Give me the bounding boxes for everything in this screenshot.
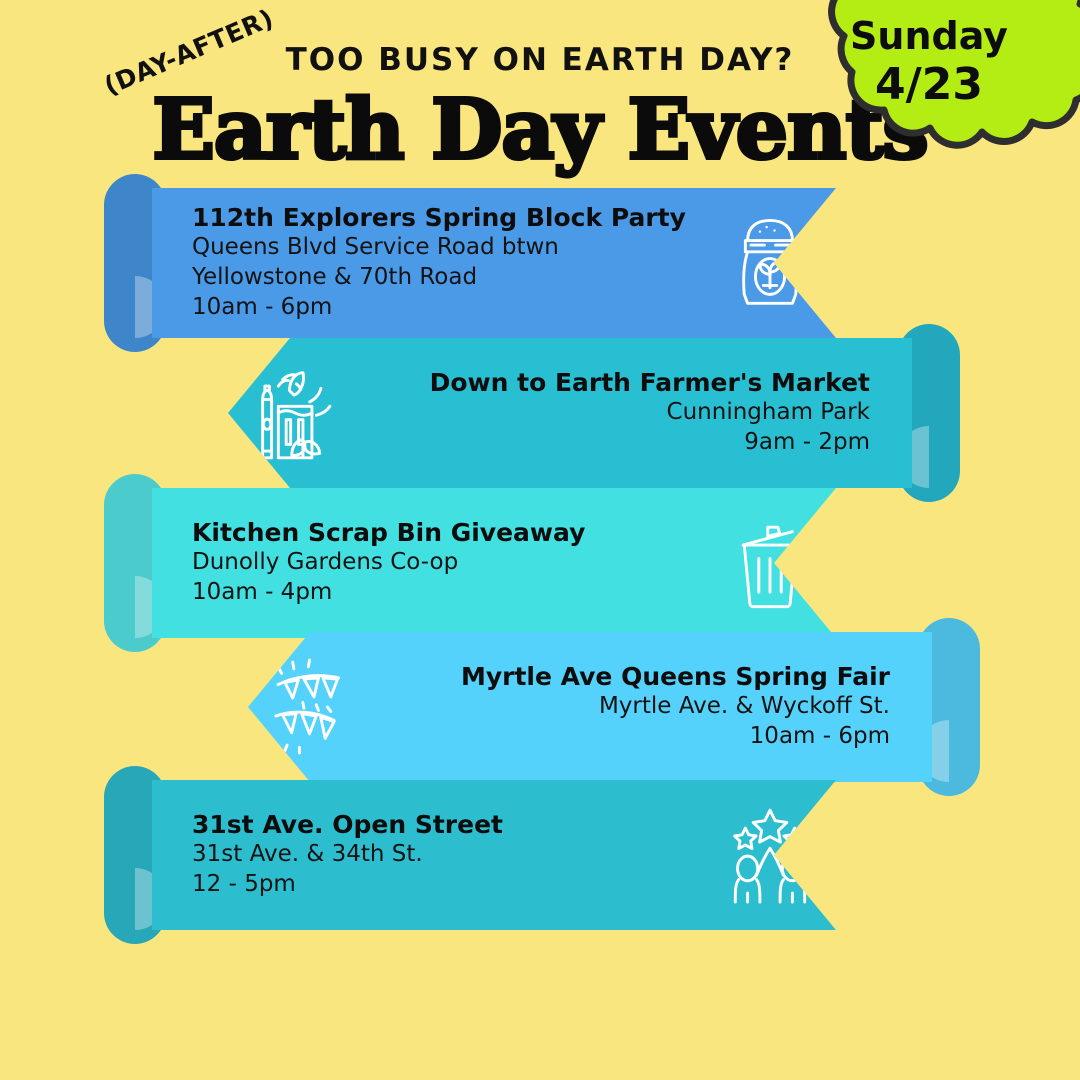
- ribbon-body: Kitchen Scrap Bin Giveaway Dunolly Garde…: [152, 488, 836, 638]
- event-banner[interactable]: Down to Earth Farmer's Market Cunningham…: [228, 338, 960, 488]
- event-time: 9am - 2pm: [430, 428, 870, 458]
- event-text-block: Down to Earth Farmer's Market Cunningham…: [430, 368, 912, 458]
- ribbon-body: Down to Earth Farmer's Market Cunningham…: [228, 338, 912, 488]
- ribbon-body: 31st Ave. Open Street 31st Ave. & 34th S…: [152, 780, 836, 930]
- event-time: 12 - 5pm: [192, 870, 503, 900]
- date-badge: Sunday 4/23: [804, 0, 1080, 190]
- event-title: 112th Explorers Spring Block Party: [192, 203, 686, 234]
- event-banner[interactable]: Myrtle Ave Queens Spring Fair Myrtle Ave…: [248, 632, 980, 782]
- event-banner[interactable]: Kitchen Scrap Bin Giveaway Dunolly Garde…: [104, 488, 836, 638]
- event-time: 10am - 6pm: [192, 293, 686, 323]
- event-text-block: 112th Explorers Spring Block Party Queen…: [152, 203, 686, 323]
- trash-bin-icon: [704, 497, 836, 629]
- event-location-line-1: Queens Blvd Service Road btwn: [192, 233, 686, 263]
- event-location-line-1: Dunolly Gardens Co-op: [192, 548, 585, 578]
- event-title: 31st Ave. Open Street: [192, 810, 503, 841]
- poster-canvas: TOO BUSY ON EARTH DAY? (DAY-AFTER) Earth…: [0, 0, 1080, 1080]
- event-banner[interactable]: 31st Ave. Open Street 31st Ave. & 34th S…: [104, 780, 836, 930]
- event-location-line-2: Yellowstone & 70th Road: [192, 263, 686, 293]
- event-title: Kitchen Scrap Bin Giveaway: [192, 518, 585, 549]
- event-text-block: Kitchen Scrap Bin Giveaway Dunolly Garde…: [152, 518, 585, 608]
- compost-bag-icon: [704, 197, 836, 329]
- event-time: 10am - 4pm: [192, 578, 585, 608]
- event-title: Down to Earth Farmer's Market: [430, 368, 870, 399]
- event-time: 10am - 6pm: [461, 722, 890, 752]
- event-title: Myrtle Ave Queens Spring Fair: [461, 662, 890, 693]
- event-location-line-1: Myrtle Ave. & Wyckoff St.: [461, 692, 890, 722]
- event-banner[interactable]: 112th Explorers Spring Block Party Queen…: [104, 188, 836, 338]
- bunting-flags-icon: [248, 641, 380, 773]
- event-location-line-1: 31st Ave. & 34th St.: [192, 840, 503, 870]
- grocery-bag-icon: [228, 347, 360, 479]
- people-celebrating-icon: [704, 789, 836, 921]
- ribbon-body: 112th Explorers Spring Block Party Queen…: [152, 188, 836, 338]
- burst-shape-icon: [804, 0, 1080, 190]
- ribbon-body: Myrtle Ave Queens Spring Fair Myrtle Ave…: [248, 632, 932, 782]
- event-text-block: Myrtle Ave Queens Spring Fair Myrtle Ave…: [461, 662, 932, 752]
- event-text-block: 31st Ave. Open Street 31st Ave. & 34th S…: [152, 810, 503, 900]
- event-location-line-1: Cunningham Park: [430, 398, 870, 428]
